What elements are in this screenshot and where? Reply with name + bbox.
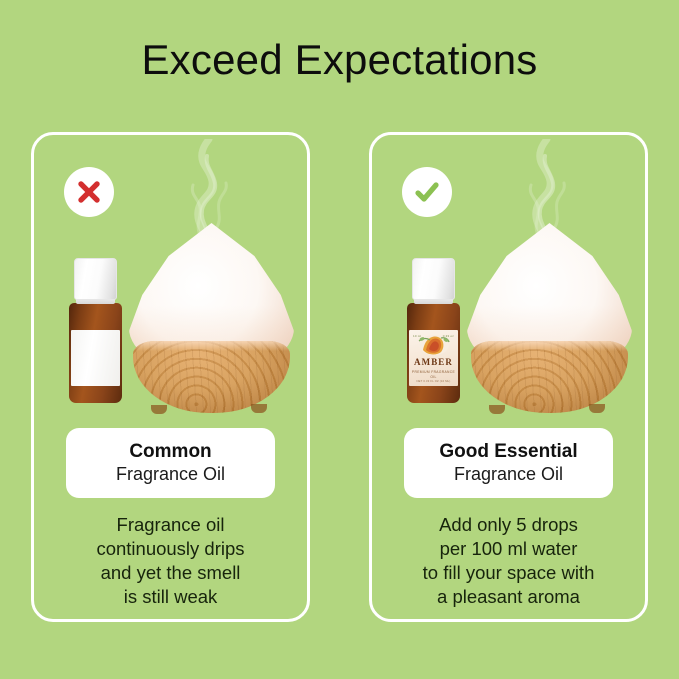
description-common: Fragrance oil continuously drips and yet… [40,513,301,609]
bottle-label-amber: 10 ml 0.33 oz [409,330,458,386]
diffuser-wood-base [133,341,290,413]
description-line: per 100 ml water [378,537,639,561]
nameplate-title: Good Essential [439,441,577,463]
diffuser-foot [251,404,267,413]
nameplate-subtitle: Fragrance Oil [116,464,225,485]
oil-bottle-common [68,258,123,403]
nameplate-title: Common [129,441,211,463]
description-line: to fill your space with [378,561,639,585]
label-product-name: AMBER [414,358,453,367]
comparison-card-common: Common Fragrance Oil Fragrance oil conti… [31,132,310,622]
bottle-body [69,303,122,403]
oil-bottle-amber: 10 ml 0.33 oz [406,258,461,403]
description-line: is still weak [40,585,301,609]
nameplate-subtitle: Fragrance Oil [454,464,563,485]
page-title: Exceed Expectations [0,36,679,84]
bottle-cap [412,258,455,300]
description-good-essential: Add only 5 drops per 100 ml water to fil… [378,513,639,609]
product-scene-common [34,135,307,425]
bottle-label-blank [71,330,120,386]
diffuser-foot [151,405,167,414]
diffuser-foot [589,404,605,413]
diffuser-wood-base [471,341,628,413]
comparison-infographic: Exceed Expectations [0,0,679,679]
label-product-netvolume: NET 0.33 FL OZ (10 ML) [417,380,451,384]
description-line: Add only 5 drops [378,513,639,537]
description-line: Fragrance oil [40,513,301,537]
bottle-body: 10 ml 0.33 oz [407,303,460,403]
product-scene-good-essential: 10 ml 0.33 oz [372,135,645,425]
description-line: and yet the smell [40,561,301,585]
bottle-cap [74,258,117,300]
nameplate-good-essential: Good Essential Fragrance Oil [404,428,613,498]
diffuser-foot [489,405,505,414]
comparison-card-good-essential: 10 ml 0.33 oz [369,132,648,622]
label-product-subtitle: PREMIUM FRAGRANCE OIL [409,370,458,380]
label-artwork-icon [417,333,451,357]
diffuser-device [129,223,294,408]
description-line: a pleasant aroma [378,585,639,609]
description-line: continuously drips [40,537,301,561]
nameplate-common: Common Fragrance Oil [66,428,275,498]
diffuser-device [467,223,632,408]
